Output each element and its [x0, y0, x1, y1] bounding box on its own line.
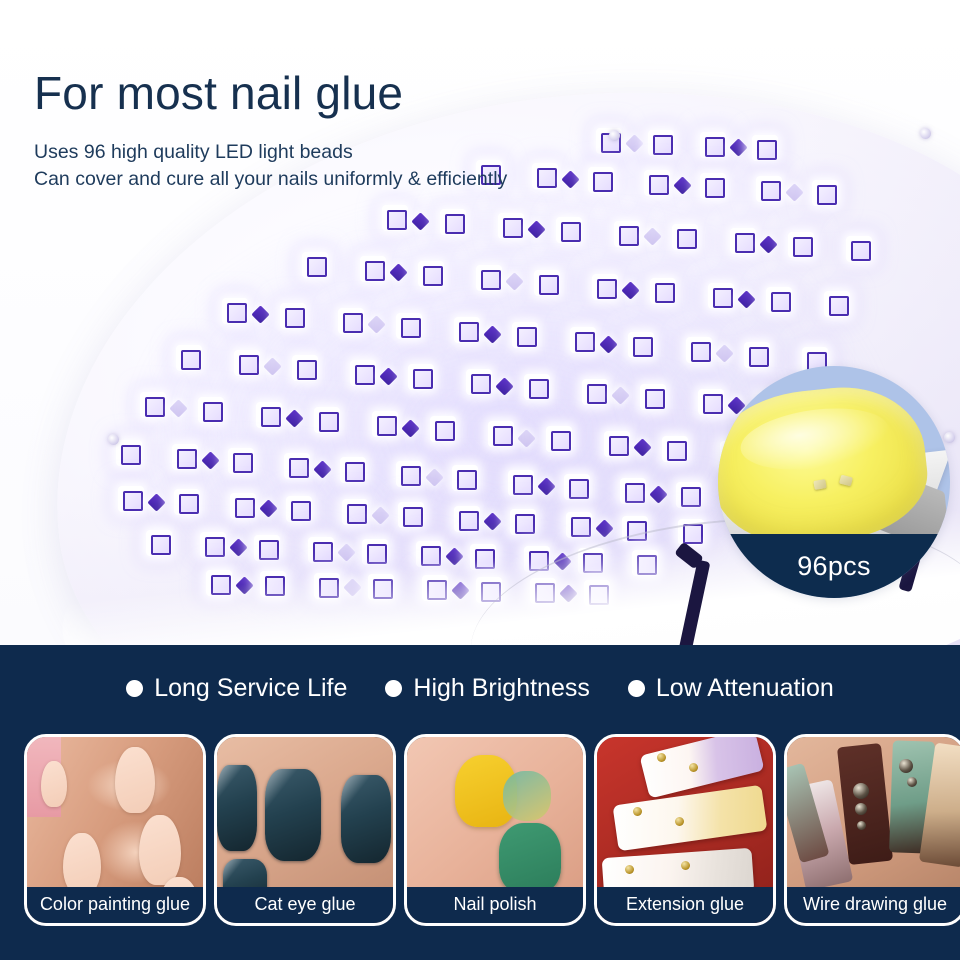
led-bead [498, 213, 524, 239]
led-bead [360, 256, 386, 282]
led-bead [846, 236, 872, 262]
gold-stud [681, 861, 690, 870]
led-bead [812, 180, 838, 206]
gemstone [855, 803, 867, 815]
led-bead [588, 167, 614, 193]
led-bead [172, 444, 198, 470]
nail [341, 775, 391, 863]
usecase-caption: Color painting glue [27, 887, 203, 923]
led-bead [408, 364, 434, 390]
usecase-card[interactable]: Color painting glue [24, 734, 206, 926]
usecase-caption-label: Color painting glue [40, 895, 190, 915]
gold-stud [633, 807, 642, 816]
led-bead [592, 274, 618, 300]
led-bead [700, 132, 726, 158]
usecase-card[interactable]: Cat eye glue [214, 734, 396, 926]
subtitle-line-2: Can cover and cure all your nails unifor… [34, 170, 507, 190]
led-bead [174, 489, 200, 515]
led-bead [440, 209, 466, 235]
led-bead [314, 407, 340, 433]
led-bead [372, 411, 398, 437]
gold-stud [657, 753, 666, 762]
led-bead [648, 130, 674, 156]
led-bead [256, 402, 282, 428]
led-bead [176, 345, 202, 371]
led-bead [302, 252, 328, 278]
feature-panel: Long Service LifeHigh BrightnessLow Atte… [0, 645, 960, 960]
led-bead [614, 221, 640, 247]
led-bead [752, 135, 778, 161]
led-bead [672, 224, 698, 250]
led-bead [116, 440, 142, 466]
usecase-caption: Wire drawing glue [787, 887, 960, 923]
gold-stud [675, 817, 684, 826]
feature-label: Long Service Life [154, 676, 347, 701]
led-bead [512, 322, 538, 348]
led-count-label: 96pcs [797, 551, 871, 582]
usecase-caption: Cat eye glue [217, 887, 393, 923]
led-bead [700, 173, 726, 199]
gemstone [857, 821, 866, 830]
nail [115, 747, 155, 813]
feature-label: Low Attenuation [656, 676, 834, 701]
led-bead [466, 369, 492, 395]
panel-screw [920, 128, 931, 139]
usecase-caption: Nail polish [407, 887, 583, 923]
led-bead [532, 163, 558, 189]
subtitle-line-1: Uses 96 high quality LED light beads [34, 143, 353, 163]
nail [139, 815, 181, 885]
gemstone [853, 783, 869, 799]
led-bead [396, 313, 422, 339]
led-bead [556, 217, 582, 243]
led-bead [118, 486, 144, 512]
led-bead [730, 228, 756, 254]
gold-stud [625, 865, 634, 874]
led-bead [350, 360, 376, 386]
nail [41, 761, 67, 807]
usecase-caption-label: Cat eye glue [254, 895, 355, 915]
led-bead [708, 283, 734, 309]
led-bead [198, 397, 224, 423]
gemstone [899, 759, 913, 773]
usecase-card[interactable]: Nail polish [404, 734, 586, 926]
led-bead [744, 342, 770, 368]
product-infographic: 96pcs For most nail glue Uses 96 high qu… [0, 0, 960, 960]
gemstone [907, 777, 917, 787]
usecase-caption-label: Nail polish [453, 895, 536, 915]
led-bead [766, 287, 792, 313]
led-bead [644, 170, 670, 196]
led-bead [570, 327, 596, 353]
panel-screw [609, 130, 620, 141]
feature-label: High Brightness [413, 676, 589, 701]
led-bead [140, 392, 166, 418]
led-bead [628, 332, 654, 358]
led-bead [228, 448, 254, 474]
led-bead [338, 308, 364, 334]
led-bead [222, 298, 248, 324]
led-bead [418, 261, 444, 287]
led-bead [476, 265, 502, 291]
led-bead [454, 317, 480, 343]
led-bead [640, 384, 666, 410]
usecase-caption: Extension glue [597, 887, 773, 923]
led-bead [284, 453, 310, 479]
bullet-dot-icon [628, 680, 645, 697]
bullet-dot-icon [385, 680, 402, 697]
hero-section: 96pcs For most nail glue Uses 96 high qu… [0, 0, 960, 645]
usecase-caption-label: Extension glue [626, 895, 744, 915]
extension-nail [613, 785, 768, 851]
led-bead [234, 350, 260, 376]
usecase-card[interactable]: Extension glue [594, 734, 776, 926]
feature-item: Low Attenuation [628, 676, 834, 701]
feature-list: Long Service LifeHigh BrightnessLow Atte… [0, 659, 960, 717]
led-bead [524, 374, 550, 400]
led-count-badge: 96pcs [718, 534, 950, 598]
nail [265, 769, 321, 861]
led-bead [382, 205, 408, 231]
led-bead [582, 379, 608, 405]
led-bead [430, 416, 456, 442]
led-magnifier-callout: 96pcs [718, 366, 950, 598]
led-bead [534, 270, 560, 296]
usecase-caption-label: Wire drawing glue [803, 895, 947, 915]
led-bead [824, 291, 850, 317]
nail [217, 765, 257, 851]
page-title: For most nail glue [34, 70, 403, 116]
feature-item: Long Service Life [126, 676, 347, 701]
led-bead [756, 176, 782, 202]
nail [499, 823, 561, 893]
feature-item: High Brightness [385, 676, 589, 701]
led-bead [650, 278, 676, 304]
panel-screw [108, 434, 119, 445]
bullet-dot-icon [126, 680, 143, 697]
usecase-card[interactable]: Wire drawing glue [784, 734, 960, 926]
nail [63, 833, 101, 895]
led-bead [280, 303, 306, 329]
led-bead [788, 232, 814, 258]
led-bead [686, 337, 712, 363]
usecase-card-list: Color painting glueCat eye glueNail poli… [24, 734, 936, 924]
led-bead [292, 355, 318, 381]
nail-art-detail [503, 771, 551, 821]
gold-stud [689, 763, 698, 772]
